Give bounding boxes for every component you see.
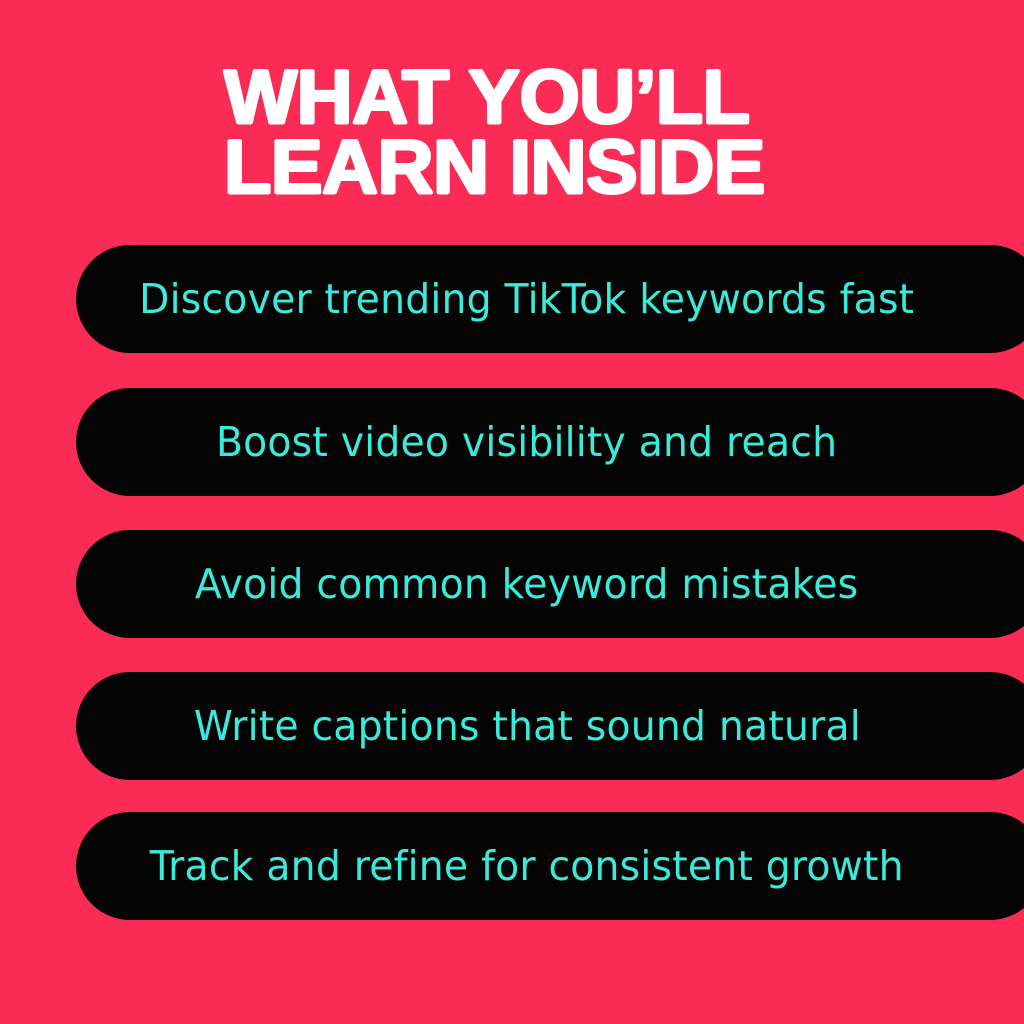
list-item: Discover trending TikTok keywords fast: [76, 245, 1024, 353]
list-item-label: Write captions that sound natural: [193, 706, 860, 747]
promo-graphic-canvas: WHAT YOU’LL LEARN INSIDE Discover trendi…: [0, 0, 1024, 1024]
list-item-label: Avoid common keyword mistakes: [195, 564, 859, 605]
list-item: Write captions that sound natural: [76, 672, 1024, 780]
list-item: Avoid common keyword mistakes: [76, 530, 1024, 638]
list-item: Track and refine for consistent growth: [76, 812, 1024, 920]
list-item: Boost video visibility and reach: [76, 388, 1024, 496]
list-item-label: Track and refine for consistent growth: [150, 846, 904, 887]
feature-list: Discover trending TikTok keywords fast B…: [0, 0, 1024, 1024]
list-item-label: Discover trending TikTok keywords fast: [139, 279, 914, 320]
list-item-label: Boost video visibility and reach: [216, 422, 837, 463]
